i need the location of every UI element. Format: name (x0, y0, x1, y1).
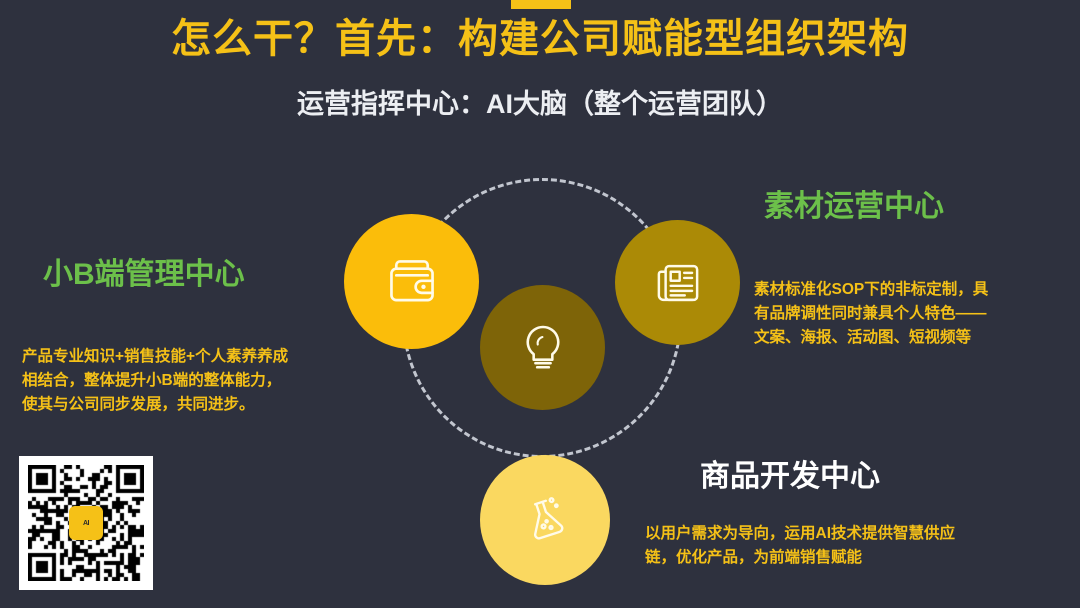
slide-canvas: 怎么干？首先：构建公司赋能型组织架构 运营指挥中心：AI大脑（整个运营团队） (0, 0, 1080, 608)
node-ai-brain-center[interactable] (480, 285, 605, 410)
flask-icon (518, 493, 572, 547)
heading-small-b-management-center: 小B端管理中心 (43, 258, 245, 291)
qr-code-logo: AI (69, 506, 103, 540)
heading-product-development-center: 商品开发中心 (700, 460, 880, 493)
newspaper-icon (651, 256, 705, 310)
wallet-icon (383, 253, 441, 311)
page-title: 怎么干？首先：构建公司赋能型组织架构 (0, 16, 1080, 63)
heading-material-operations-center: 素材运营中心 (764, 190, 944, 223)
lightbulb-icon (515, 320, 571, 376)
qr-code[interactable]: AI (19, 456, 153, 590)
node-small-b-management-center[interactable] (344, 214, 479, 349)
top-accent-bar (511, 0, 571, 9)
node-product-development-center[interactable] (480, 455, 610, 585)
body-material-operations-center: 素材标准化SOP下的非标定制，具 有品牌调性同时兼具个人特色—— 文案、海报、活… (754, 278, 1079, 350)
body-product-development-center: 以用户需求为导向，运用AI技术提供智慧供应 链，优化产品，为前端销售赋能 (645, 522, 1075, 570)
node-material-operations-center[interactable] (615, 220, 740, 345)
body-small-b-management-center: 产品专业知识+销售技能+个人素养养成 相结合，整体提升小B端的整体能力， 使其与… (22, 345, 377, 417)
page-subtitle: 运营指挥中心：AI大脑（整个运营团队） (0, 88, 1080, 120)
